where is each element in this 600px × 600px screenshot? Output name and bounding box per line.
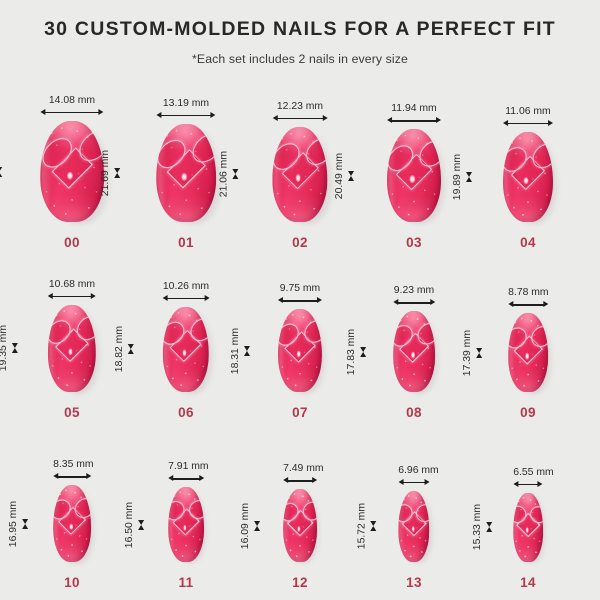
height-dimension-label: 19.35 mm bbox=[0, 325, 9, 371]
nail-highlight bbox=[183, 525, 187, 531]
size-label: 00 bbox=[64, 235, 80, 250]
height-dimension-label: 16.95 mm bbox=[8, 501, 19, 547]
width-dimension-label: 6.55 mm bbox=[513, 467, 543, 478]
width-arrow bbox=[40, 109, 104, 116]
arrow-head-top-icon bbox=[138, 525, 144, 530]
height-dimension-label: 21.06 mm bbox=[219, 151, 230, 197]
width-dimension-label: 14.08 mm bbox=[40, 95, 104, 106]
size-cell[interactable]: 7.91 mm16.50 mm11 bbox=[129, 422, 243, 592]
width-arrow bbox=[398, 479, 429, 486]
arrow-head-bottom-icon bbox=[254, 521, 260, 526]
height-dimension: 16.95 mm bbox=[8, 485, 29, 562]
width-dimension-label: 11.06 mm bbox=[503, 106, 553, 117]
height-dimension: 18.82 mm bbox=[114, 307, 135, 392]
nail-image bbox=[163, 307, 209, 392]
arrow-head-right-icon bbox=[204, 295, 209, 301]
arrow-head-right-icon bbox=[543, 301, 548, 307]
size-label: 03 bbox=[406, 235, 422, 250]
height-dimension-label: 21.69 mm bbox=[100, 150, 111, 196]
arrow-head-top-icon bbox=[254, 526, 260, 531]
arrow-head-top-icon bbox=[466, 177, 472, 182]
arrow-head-bottom-icon bbox=[244, 346, 250, 351]
width-dimension-label: 13.19 mm bbox=[156, 98, 216, 109]
height-dimension: 20.49 mm bbox=[334, 129, 355, 222]
width-dimension: 13.19 mm bbox=[156, 98, 216, 119]
arrow-head-bottom-icon bbox=[466, 172, 472, 177]
width-arrow bbox=[283, 477, 317, 484]
nail-highlight bbox=[67, 171, 73, 180]
arrow-bar bbox=[44, 112, 100, 113]
width-dimension-label: 9.75 mm bbox=[278, 283, 322, 294]
arrow-bar bbox=[507, 123, 549, 124]
arrow-head-right-icon bbox=[430, 299, 435, 305]
height-dimension: 19.89 mm bbox=[452, 132, 473, 222]
size-cell[interactable]: 8.78 mm17.39 mm09 bbox=[471, 252, 585, 422]
nail-image bbox=[53, 485, 91, 562]
nail-image bbox=[513, 493, 543, 562]
nail-image bbox=[278, 309, 322, 392]
nail-body bbox=[503, 132, 553, 222]
arrow-bar bbox=[172, 478, 200, 479]
height-dimension: 16.50 mm bbox=[124, 487, 145, 562]
size-cell[interactable]: 11.06 mm19.89 mm04 bbox=[471, 82, 585, 252]
nail-body bbox=[398, 491, 429, 562]
arrow-bar bbox=[52, 296, 92, 297]
arrow-head-bottom-icon bbox=[360, 347, 366, 352]
size-label: 04 bbox=[520, 235, 536, 250]
arrow-bar bbox=[512, 304, 544, 305]
height-dimension: 17.39 mm bbox=[462, 313, 483, 392]
height-dimension: 15.33 mm bbox=[472, 493, 493, 562]
nail-image bbox=[272, 127, 327, 222]
arrow-head-right-icon bbox=[436, 117, 441, 123]
width-dimension: 9.75 mm bbox=[278, 283, 322, 304]
height-dimension-label: 16.09 mm bbox=[240, 503, 251, 549]
width-arrow bbox=[393, 299, 435, 306]
size-cell[interactable]: 6.96 mm15.72 mm13 bbox=[357, 422, 471, 592]
arrow-head-top-icon bbox=[233, 174, 239, 179]
width-arrow bbox=[503, 120, 553, 127]
height-dimension: 17.83 mm bbox=[346, 311, 367, 392]
width-dimension-label: 10.26 mm bbox=[163, 281, 209, 292]
nail-image bbox=[387, 129, 441, 222]
arrow-head-top-icon bbox=[22, 524, 28, 529]
nail-image bbox=[503, 132, 553, 222]
size-label: 11 bbox=[178, 575, 193, 590]
size-label: 05 bbox=[64, 405, 80, 420]
nail-image bbox=[40, 121, 104, 222]
nail-highlight bbox=[411, 352, 415, 359]
nail-body bbox=[278, 309, 322, 392]
size-cell[interactable]: 9.23 mm17.83 mm08 bbox=[357, 252, 471, 422]
width-dimension-label: 7.49 mm bbox=[283, 463, 317, 474]
height-dimension: 19.35 mm bbox=[0, 305, 19, 392]
height-dimension-label: 17.83 mm bbox=[346, 329, 357, 375]
width-dimension: 11.94 mm bbox=[387, 103, 441, 124]
nail-image bbox=[398, 491, 429, 562]
arrow-bar bbox=[287, 480, 313, 481]
nail-body bbox=[393, 311, 435, 392]
nail-image bbox=[156, 124, 216, 222]
arrow-bar bbox=[397, 302, 431, 303]
size-row: 8.35 mm16.95 mm107.91 mm16.50 mm117.49 m… bbox=[0, 422, 600, 592]
arrow-head-right-icon bbox=[199, 475, 204, 481]
nail-image bbox=[283, 489, 317, 562]
size-grid: 14.08 mm22.33 mm0013.19 mm21.69 mm0112.2… bbox=[0, 82, 600, 592]
height-dimension: 22.33 mm bbox=[0, 121, 3, 222]
width-dimension-label: 8.35 mm bbox=[53, 459, 91, 470]
nail-body bbox=[156, 124, 216, 222]
nail-image bbox=[508, 313, 548, 392]
arrow-head-top-icon bbox=[476, 353, 482, 358]
arrow-head-top-icon bbox=[244, 351, 250, 356]
arrow-head-top-icon bbox=[0, 172, 2, 177]
height-dimension-label: 18.31 mm bbox=[230, 328, 241, 374]
arrow-head-top-icon bbox=[360, 352, 366, 357]
width-dimension: 14.08 mm bbox=[40, 95, 104, 116]
size-label: 07 bbox=[292, 405, 308, 420]
nail-image bbox=[48, 305, 96, 392]
header: 30 CUSTOM-MOLDED NAILS FOR A PERFECT FIT… bbox=[0, 0, 600, 66]
nail-image bbox=[393, 311, 435, 392]
size-label: 06 bbox=[178, 405, 194, 420]
width-dimension: 8.78 mm bbox=[508, 287, 548, 308]
width-dimension-label: 12.23 mm bbox=[272, 101, 327, 112]
size-label: 09 bbox=[520, 405, 536, 420]
nail-body bbox=[513, 493, 543, 562]
height-dimension: 18.31 mm bbox=[230, 309, 251, 392]
arrow-head-top-icon bbox=[486, 527, 492, 532]
width-arrow bbox=[163, 295, 209, 302]
arrow-bar bbox=[402, 482, 425, 483]
width-arrow bbox=[278, 297, 322, 304]
size-cell[interactable]: 9.75 mm18.31 mm07 bbox=[243, 252, 357, 422]
arrow-head-bottom-icon bbox=[114, 168, 120, 173]
width-arrow bbox=[508, 301, 548, 308]
nail-body bbox=[272, 127, 327, 222]
width-dimension: 12.23 mm bbox=[272, 101, 327, 122]
nail-body bbox=[283, 489, 317, 562]
height-dimension: 15.72 mm bbox=[357, 491, 378, 562]
width-dimension: 10.26 mm bbox=[163, 281, 209, 302]
page-subtitle: *Each set includes 2 nails in every size bbox=[0, 52, 600, 66]
size-cell[interactable]: 10.68 mm19.35 mm05 bbox=[15, 252, 129, 422]
arrow-head-right-icon bbox=[86, 473, 91, 479]
arrow-head-bottom-icon bbox=[128, 344, 134, 349]
nail-body bbox=[163, 307, 209, 392]
arrow-head-bottom-icon bbox=[12, 343, 18, 348]
width-dimension: 10.68 mm bbox=[48, 279, 96, 300]
nail-body bbox=[508, 313, 548, 392]
arrow-head-right-icon bbox=[312, 477, 317, 483]
width-dimension: 6.55 mm bbox=[513, 467, 543, 488]
nail-highlight bbox=[68, 348, 73, 355]
arrow-head-bottom-icon bbox=[348, 171, 354, 176]
nail-highlight bbox=[182, 349, 187, 356]
size-label: 13 bbox=[406, 575, 422, 590]
nail-highlight bbox=[526, 527, 529, 533]
width-dimension: 7.49 mm bbox=[283, 463, 317, 484]
arrow-bar bbox=[276, 118, 323, 119]
width-dimension: 11.06 mm bbox=[503, 106, 553, 127]
width-dimension-label: 6.96 mm bbox=[398, 465, 429, 476]
arrow-head-top-icon bbox=[128, 349, 134, 354]
size-label: 10 bbox=[64, 575, 80, 590]
nail-highlight bbox=[524, 177, 529, 185]
size-cell[interactable]: 6.55 mm15.33 mm14 bbox=[471, 422, 585, 592]
height-dimension-label: 20.49 mm bbox=[334, 153, 345, 199]
arrow-head-bottom-icon bbox=[371, 521, 377, 526]
height-dimension-label: 16.50 mm bbox=[124, 502, 135, 548]
arrow-head-top-icon bbox=[371, 526, 377, 531]
arrow-head-bottom-icon bbox=[138, 520, 144, 525]
width-dimension-label: 9.23 mm bbox=[393, 285, 435, 296]
size-label: 14 bbox=[520, 575, 536, 590]
nail-body bbox=[53, 485, 91, 562]
arrow-head-right-icon bbox=[99, 109, 104, 115]
height-dimension: 21.06 mm bbox=[219, 127, 240, 222]
size-label: 02 bbox=[292, 235, 308, 250]
arrow-head-right-icon bbox=[425, 479, 430, 485]
nail-body bbox=[387, 129, 441, 222]
height-dimension-label: 17.39 mm bbox=[462, 330, 473, 376]
nail-highlight bbox=[296, 174, 302, 182]
nail-body bbox=[48, 305, 96, 392]
arrow-head-bottom-icon bbox=[0, 167, 2, 172]
height-dimension-label: 19.89 mm bbox=[452, 154, 463, 200]
arrow-head-bottom-icon bbox=[233, 169, 239, 174]
arrow-head-bottom-icon bbox=[486, 522, 492, 527]
arrow-bar bbox=[391, 120, 437, 121]
arrow-head-right-icon bbox=[538, 481, 543, 487]
width-arrow bbox=[387, 117, 441, 124]
arrow-head-bottom-icon bbox=[22, 519, 28, 524]
arrow-head-right-icon bbox=[323, 115, 328, 121]
size-label: 12 bbox=[292, 575, 308, 590]
width-dimension-label: 10.68 mm bbox=[48, 279, 96, 290]
width-arrow bbox=[156, 112, 216, 119]
size-label: 01 bbox=[178, 235, 194, 250]
width-arrow bbox=[513, 481, 543, 488]
size-cell[interactable]: 10.26 mm18.82 mm06 bbox=[129, 252, 243, 422]
nail-highlight bbox=[69, 524, 73, 531]
width-arrow bbox=[53, 473, 91, 480]
arrow-head-right-icon bbox=[548, 120, 553, 126]
arrow-bar bbox=[57, 476, 87, 477]
arrow-bar bbox=[167, 298, 205, 299]
arrow-head-top-icon bbox=[348, 176, 354, 181]
page-title: 30 CUSTOM-MOLDED NAILS FOR A PERFECT FIT bbox=[0, 18, 600, 41]
arrow-head-right-icon bbox=[317, 297, 322, 303]
width-dimension: 7.91 mm bbox=[168, 461, 204, 482]
height-dimension-label: 18.82 mm bbox=[114, 326, 125, 372]
size-cell[interactable]: 8.35 mm16.95 mm10 bbox=[15, 422, 129, 592]
height-dimension: 21.69 mm bbox=[100, 124, 121, 222]
width-dimension-label: 8.78 mm bbox=[508, 287, 548, 298]
width-arrow bbox=[168, 475, 204, 482]
width-dimension: 6.96 mm bbox=[398, 465, 429, 486]
arrow-bar bbox=[160, 115, 212, 116]
size-chart-page: 30 CUSTOM-MOLDED NAILS FOR A PERFECT FIT… bbox=[0, 0, 600, 600]
nail-image bbox=[168, 487, 204, 562]
arrow-head-top-icon bbox=[114, 173, 120, 178]
arrow-head-top-icon bbox=[12, 348, 18, 353]
width-dimension: 8.35 mm bbox=[53, 459, 91, 480]
arrow-bar bbox=[517, 484, 539, 485]
nail-highlight bbox=[525, 353, 529, 360]
height-dimension-label: 15.72 mm bbox=[357, 503, 368, 549]
size-label: 08 bbox=[406, 405, 422, 420]
nail-body bbox=[168, 487, 204, 562]
width-arrow bbox=[272, 115, 327, 122]
arrow-bar bbox=[282, 300, 318, 301]
arrow-head-bottom-icon bbox=[476, 348, 482, 353]
width-dimension-label: 11.94 mm bbox=[387, 103, 441, 114]
height-dimension: 16.09 mm bbox=[240, 489, 261, 562]
size-row: 14.08 mm22.33 mm0013.19 mm21.69 mm0112.2… bbox=[0, 82, 600, 252]
width-arrow bbox=[48, 293, 96, 300]
arrow-head-right-icon bbox=[91, 293, 96, 299]
height-dimension-label: 15.33 mm bbox=[472, 504, 483, 550]
arrow-head-right-icon bbox=[211, 112, 216, 118]
nail-body bbox=[40, 121, 104, 222]
size-row: 10.68 mm19.35 mm0510.26 mm18.82 mm069.75… bbox=[0, 252, 600, 422]
width-dimension: 9.23 mm bbox=[393, 285, 435, 306]
width-dimension-label: 7.91 mm bbox=[168, 461, 204, 472]
size-cell[interactable]: 7.49 mm16.09 mm12 bbox=[243, 422, 357, 592]
